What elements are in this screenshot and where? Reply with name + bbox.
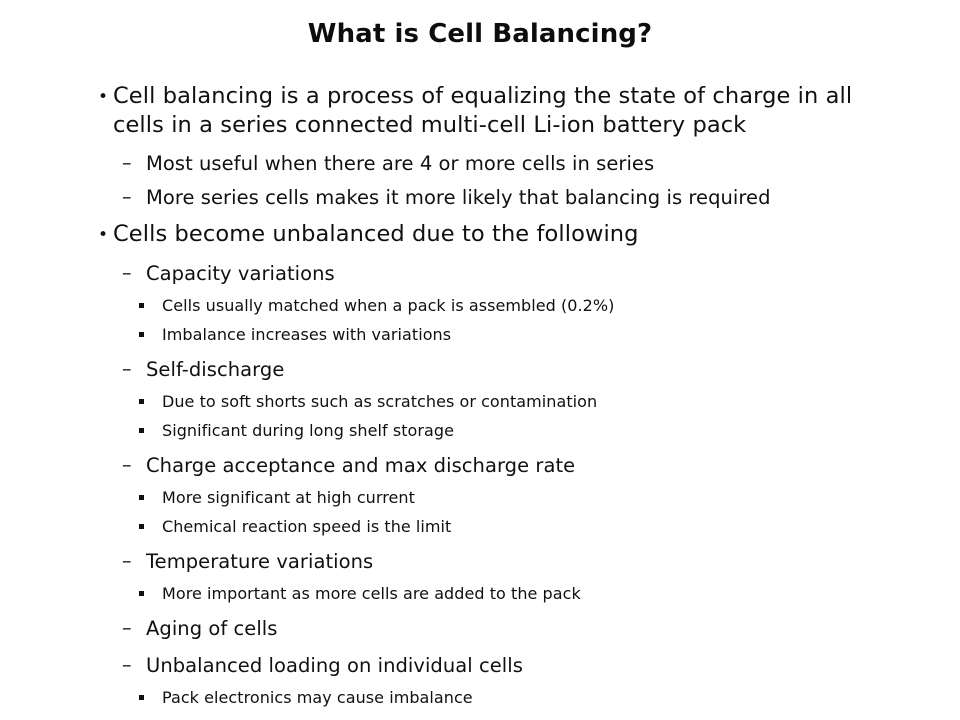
bullet-square-icon (139, 294, 162, 317)
list-item-label: Cell balancing is a process of equalizin… (113, 82, 869, 140)
list-item: – Charge acceptance and max discharge ra… (92, 452, 882, 479)
list-item: Due to soft shorts such as scratches or … (92, 390, 882, 413)
list-item-label: Significant during long shelf storage (162, 419, 882, 442)
list-item-label: Chemical reaction speed is the limit (162, 515, 882, 538)
list-item: Cells usually matched when a pack is ass… (92, 294, 882, 317)
list-item: Imbalance increases with variations (92, 323, 882, 346)
page-title: What is Cell Balancing? (0, 18, 960, 50)
list-item: – Capacity variations (92, 260, 882, 287)
list-item: – Aging of cells (92, 615, 882, 642)
list-item-label: Cells become unbalanced due to the follo… (113, 220, 869, 249)
list-item: – Most useful when there are 4 or more c… (92, 150, 882, 177)
list-item: More significant at high current (92, 486, 882, 509)
list-item: Significant during long shelf storage (92, 419, 882, 442)
list-item: – Unbalanced loading on individual cells (92, 652, 882, 679)
slide: What is Cell Balancing? • Cell balancing… (0, 0, 960, 720)
list-item: • Cells become unbalanced due to the fol… (92, 220, 882, 250)
list-item-label: Most useful when there are 4 or more cel… (146, 150, 882, 177)
bullet-dot-icon: • (98, 82, 113, 112)
bullet-square-icon (139, 686, 162, 709)
list-item-label: Self-discharge (146, 356, 882, 383)
list-item-label: Temperature variations (146, 548, 882, 575)
bullet-dash-icon: – (122, 184, 146, 211)
bullet-square-icon (139, 515, 162, 538)
list-item-label: Aging of cells (146, 615, 882, 642)
bullet-square-icon (139, 582, 162, 605)
bullet-square-icon (139, 390, 162, 413)
list-item-label: Capacity variations (146, 260, 882, 287)
list-item: – Temperature variations (92, 548, 882, 575)
list-item: • Cell balancing is a process of equaliz… (92, 82, 882, 140)
list-item: Pack electronics may cause imbalance (92, 686, 882, 709)
bullet-dash-icon: – (122, 356, 146, 383)
bullet-dash-icon: – (122, 615, 146, 642)
bullet-square-icon (139, 486, 162, 509)
slide-body: • Cell balancing is a process of equaliz… (92, 82, 882, 709)
bullet-square-icon (139, 323, 162, 346)
list-item-label: Due to soft shorts such as scratches or … (162, 390, 882, 413)
bullet-dash-icon: – (122, 652, 146, 679)
list-item: – Self-discharge (92, 356, 882, 383)
bullet-square-icon (139, 419, 162, 442)
list-item-label: More important as more cells are added t… (162, 582, 882, 605)
list-item-label: Charge acceptance and max discharge rate (146, 452, 882, 479)
bullet-dash-icon: – (122, 150, 146, 177)
list-item-label: Cells usually matched when a pack is ass… (162, 294, 882, 317)
bullet-dash-icon: – (122, 548, 146, 575)
list-item-label: Unbalanced loading on individual cells (146, 652, 882, 679)
list-item-label: Pack electronics may cause imbalance (162, 686, 882, 709)
bullet-dash-icon: – (122, 452, 146, 479)
list-item-label: More significant at high current (162, 486, 882, 509)
list-item: Chemical reaction speed is the limit (92, 515, 882, 538)
list-item: – More series cells makes it more likely… (92, 184, 882, 211)
list-item-label: More series cells makes it more likely t… (146, 184, 882, 211)
list-item-label: Imbalance increases with variations (162, 323, 882, 346)
bullet-dot-icon: • (98, 220, 113, 250)
bullet-dash-icon: – (122, 260, 146, 287)
list-item: More important as more cells are added t… (92, 582, 882, 605)
